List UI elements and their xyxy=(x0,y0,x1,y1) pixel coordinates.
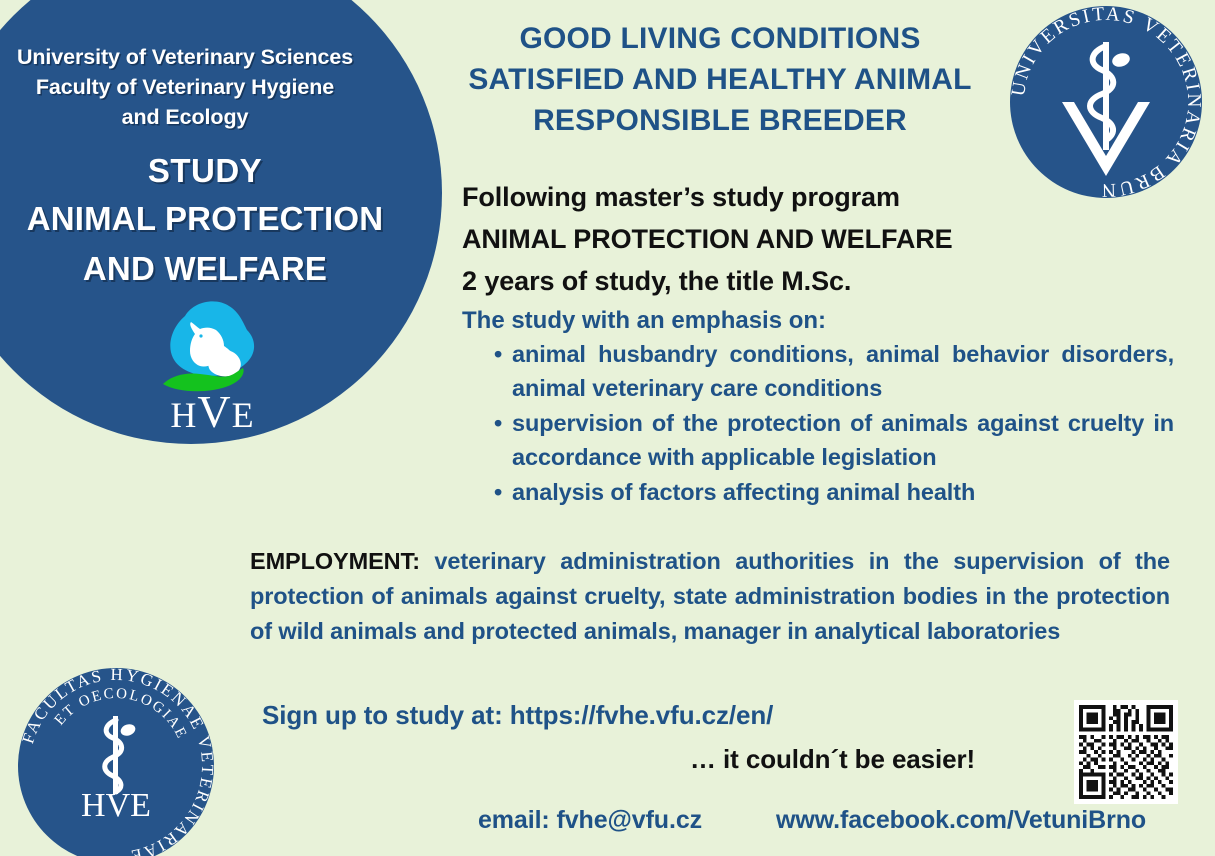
hve-logo-abbr: HVE xyxy=(145,394,280,433)
program-info-block: Following master’s study program ANIMAL … xyxy=(462,176,1102,338)
study-title-block: STUDY ANIMAL PROTECTION AND WELFARE xyxy=(0,148,410,294)
facebook-link[interactable]: www.facebook.com/VetuniBrno xyxy=(776,806,1146,834)
university-circle-panel: University of Veterinary Sciences Facult… xyxy=(0,0,442,444)
headline-line-1: GOOD LIVING CONDITIONS xyxy=(430,18,1010,59)
employment-keyword: EMPLOYMENT: xyxy=(250,548,420,574)
study-label: STUDY xyxy=(0,148,410,194)
list-item: • animal husbandry conditions, animal be… xyxy=(492,337,1174,405)
bullet-text: supervision of the protection of animals… xyxy=(512,410,1174,470)
faculty-seal: FACULTAS HYGIENAE VETERINARIAE ET OECOLO… xyxy=(18,668,214,856)
university-line-3: and Ecology xyxy=(0,102,370,132)
contact-row: email: fvhe@vfu.czwww.facebook.com/Vetun… xyxy=(478,806,1178,835)
bullet-text: animal husbandry conditions, animal beha… xyxy=(512,341,1174,401)
program-line-3: 2 years of study, the title M.Sc. xyxy=(462,260,1102,302)
university-name-block: University of Veterinary Sciences Facult… xyxy=(0,42,370,132)
study-program-line-1: ANIMAL PROTECTION xyxy=(0,194,410,244)
program-line-1: Following master’s study program xyxy=(462,176,1102,218)
university-line-2: Faculty of Veterinary Hygiene xyxy=(0,72,370,102)
faculty-seal-monogram: HVE xyxy=(81,787,151,824)
bullet-text: analysis of factors affecting animal hea… xyxy=(512,479,975,505)
bullet-marker-icon: • xyxy=(494,475,502,509)
employment-paragraph: EMPLOYMENT: veterinary administration au… xyxy=(250,544,1170,649)
list-item: • supervision of the protection of anima… xyxy=(492,406,1174,474)
hve-letter-e: E xyxy=(232,395,255,435)
email-link[interactable]: email: fvhe@vfu.cz xyxy=(478,806,702,834)
qr-code[interactable] xyxy=(1074,700,1178,804)
hve-letter-h: H xyxy=(170,395,197,435)
university-seal-icon: UNIVERSITAS VETERINARIA BRUNENSIS xyxy=(1010,6,1202,198)
bullet-marker-icon: • xyxy=(494,337,502,371)
program-line-2: ANIMAL PROTECTION AND WELFARE xyxy=(462,218,1102,260)
qr-code-icon xyxy=(1079,705,1173,799)
emphasis-bullet-list: • animal husbandry conditions, animal be… xyxy=(492,337,1174,510)
emphasis-intro: The study with an emphasis on: xyxy=(462,304,1102,338)
study-program-line-2: AND WELFARE xyxy=(0,244,410,294)
faculty-seal-icon: FACULTAS HYGIENAE VETERINARIAE ET OECOLO… xyxy=(18,668,214,856)
headline-line-3: RESPONSIBLE BREEDER xyxy=(430,100,1010,141)
poster-canvas: University of Veterinary Sciences Facult… xyxy=(0,0,1215,856)
list-item: • analysis of factors affecting animal h… xyxy=(492,475,1174,509)
university-seal: UNIVERSITAS VETERINARIA BRUNENSIS xyxy=(1010,6,1202,198)
page-title: GOOD LIVING CONDITIONS SATISFIED AND HEA… xyxy=(430,18,1010,141)
hve-animals-icon xyxy=(145,298,280,398)
signup-link[interactable]: Sign up to study at: https://fvhe.vfu.cz… xyxy=(262,700,773,731)
hve-logo: HVE xyxy=(145,298,280,443)
bullet-marker-icon: • xyxy=(494,406,502,440)
university-line-1: University of Veterinary Sciences xyxy=(0,42,370,72)
hve-letter-v: V xyxy=(197,386,231,437)
university-circle-content: University of Veterinary Sciences Facult… xyxy=(0,0,442,444)
tagline-text: … it couldn´t be easier! xyxy=(690,744,975,775)
headline-line-2: SATISFIED AND HEALTHY ANIMAL xyxy=(430,59,1010,100)
